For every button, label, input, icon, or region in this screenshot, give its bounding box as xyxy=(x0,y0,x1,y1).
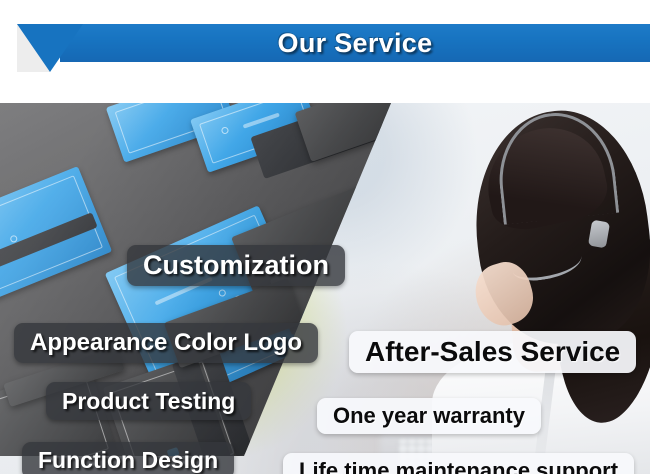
label-product-testing: Product Testing xyxy=(46,382,251,420)
label-customization: Customization xyxy=(127,245,345,286)
label-appearance-color-logo: Appearance Color Logo xyxy=(14,323,318,363)
our-service-banner: Our Service xyxy=(0,0,650,474)
label-after-sales-service: After-Sales Service xyxy=(349,331,636,373)
label-text: Product Testing xyxy=(62,388,235,415)
label-function-design: Function Design xyxy=(22,442,234,474)
page-title: Our Service xyxy=(60,24,650,62)
label-text: One year warranty xyxy=(333,403,525,429)
label-text: Customization xyxy=(143,250,329,281)
label-text: Function Design xyxy=(38,447,218,474)
label-text: After-Sales Service xyxy=(365,336,620,368)
label-one-year-warranty: One year warranty xyxy=(317,398,541,434)
label-text: Life time maintenance support xyxy=(299,458,618,474)
label-text: Appearance Color Logo xyxy=(30,329,302,357)
banner-header: Our Service xyxy=(0,0,650,103)
label-life-time-maintenance-support: Life time maintenance support xyxy=(283,453,634,474)
banner-body: Customization Appearance Color Logo Prod… xyxy=(0,103,650,474)
